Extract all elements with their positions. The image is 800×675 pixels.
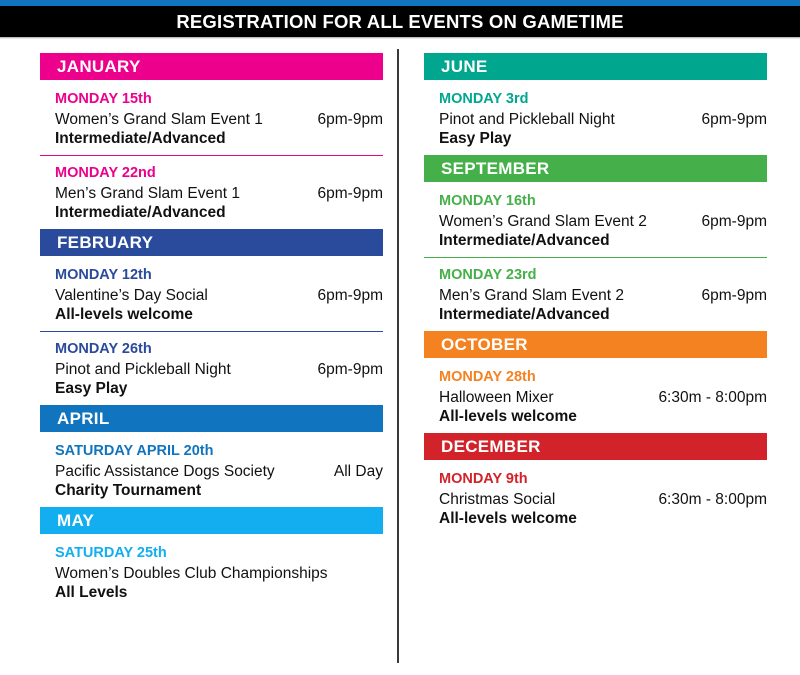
event-item[interactable]: SATURDAY APRIL 20thPacific Assistance Do… bbox=[40, 434, 383, 507]
month-header-september: SEPTEMBER bbox=[424, 155, 767, 182]
event-body: Valentine’s Day SocialAll-levels welcome… bbox=[40, 287, 383, 325]
event-list: MONDAY 9thChristmas SocialAll-levels wel… bbox=[424, 460, 767, 535]
event-time: 6pm-9pm bbox=[306, 287, 383, 306]
event-level: Intermediate/Advanced bbox=[439, 306, 624, 325]
event-body: Women’s Doubles Club ChampionshipsAll Le… bbox=[40, 565, 383, 603]
event-body: Pinot and Pickleball NightEasy Play6pm-9… bbox=[40, 361, 383, 399]
event-date: SATURDAY APRIL 20th bbox=[40, 442, 383, 460]
event-level: All-levels welcome bbox=[439, 408, 577, 427]
event-text: Pinot and Pickleball NightEasy Play bbox=[439, 111, 615, 149]
event-level: Intermediate/Advanced bbox=[55, 204, 240, 223]
event-item[interactable]: MONDAY 12thValentine’s Day SocialAll-lev… bbox=[40, 258, 383, 331]
event-item[interactable]: MONDAY 23rdMen’s Grand Slam Event 2Inter… bbox=[424, 257, 767, 331]
event-text: Men’s Grand Slam Event 1Intermediate/Adv… bbox=[55, 185, 240, 223]
month-name: APRIL bbox=[57, 410, 110, 427]
event-time: 6:30m - 8:00pm bbox=[646, 491, 767, 510]
event-date: MONDAY 28th bbox=[424, 368, 767, 386]
event-time: 6pm-9pm bbox=[306, 111, 383, 130]
month-block: JANUARYMONDAY 15thWomen’s Grand Slam Eve… bbox=[40, 53, 383, 229]
month-header-january: JANUARY bbox=[40, 53, 383, 80]
event-item[interactable]: MONDAY 26thPinot and Pickleball NightEas… bbox=[40, 331, 383, 405]
month-name: JANUARY bbox=[57, 58, 141, 75]
month-name: SEPTEMBER bbox=[441, 160, 550, 177]
month-header-june: JUNE bbox=[424, 53, 767, 80]
event-time: All Day bbox=[322, 463, 383, 482]
event-text: Pinot and Pickleball NightEasy Play bbox=[55, 361, 231, 399]
event-text: Women’s Grand Slam Event 1Intermediate/A… bbox=[55, 111, 263, 149]
event-item[interactable]: MONDAY 9thChristmas SocialAll-levels wel… bbox=[424, 462, 767, 535]
event-body: Christmas SocialAll-levels welcome6:30m … bbox=[424, 491, 767, 529]
month-block: APRILSATURDAY APRIL 20thPacific Assistan… bbox=[40, 405, 383, 507]
registration-schedule-page: REGISTRATION FOR ALL EVENTS ON GAMETIME … bbox=[0, 0, 800, 675]
month-name: FEBRUARY bbox=[57, 234, 153, 251]
event-level: Intermediate/Advanced bbox=[55, 130, 263, 149]
event-text: Valentine’s Day SocialAll-levels welcome bbox=[55, 287, 208, 325]
event-date: SATURDAY 25th bbox=[40, 544, 383, 562]
event-time: 6pm-9pm bbox=[306, 361, 383, 380]
event-name: Women’s Grand Slam Event 2 bbox=[439, 213, 647, 232]
event-time: 6pm-9pm bbox=[690, 287, 767, 306]
month-block: JUNEMONDAY 3rdPinot and Pickleball Night… bbox=[424, 53, 767, 155]
right-column: JUNEMONDAY 3rdPinot and Pickleball Night… bbox=[400, 53, 800, 663]
month-header-october: OCTOBER bbox=[424, 331, 767, 358]
event-list: SATURDAY APRIL 20thPacific Assistance Do… bbox=[40, 432, 383, 507]
event-name: Women’s Doubles Club Championships bbox=[55, 565, 328, 584]
event-date: MONDAY 15th bbox=[40, 90, 383, 108]
event-level: Easy Play bbox=[439, 130, 615, 149]
event-level: Easy Play bbox=[55, 380, 231, 399]
event-name: Men’s Grand Slam Event 2 bbox=[439, 287, 624, 306]
event-text: Christmas SocialAll-levels welcome bbox=[439, 491, 577, 529]
event-name: Halloween Mixer bbox=[439, 389, 577, 408]
month-header-february: FEBRUARY bbox=[40, 229, 383, 256]
event-list: MONDAY 12thValentine’s Day SocialAll-lev… bbox=[40, 256, 383, 405]
event-name: Pacific Assistance Dogs Society bbox=[55, 463, 275, 482]
event-text: Women’s Grand Slam Event 2Intermediate/A… bbox=[439, 213, 647, 251]
event-name: Pinot and Pickleball Night bbox=[439, 111, 615, 130]
month-header-december: DECEMBER bbox=[424, 433, 767, 460]
event-item[interactable]: SATURDAY 25thWomen’s Doubles Club Champi… bbox=[40, 536, 383, 609]
event-name: Men’s Grand Slam Event 1 bbox=[55, 185, 240, 204]
event-level: Charity Tournament bbox=[55, 482, 275, 501]
month-header-april: APRIL bbox=[40, 405, 383, 432]
event-date: MONDAY 3rd bbox=[424, 90, 767, 108]
event-text: Halloween MixerAll-levels welcome bbox=[439, 389, 577, 427]
event-body: Men’s Grand Slam Event 1Intermediate/Adv… bbox=[40, 185, 383, 223]
month-name: JUNE bbox=[441, 58, 488, 75]
event-text: Pacific Assistance Dogs SocietyCharity T… bbox=[55, 463, 275, 501]
month-name: DECEMBER bbox=[441, 438, 541, 455]
event-time: 6pm-9pm bbox=[690, 111, 767, 130]
event-body: Women’s Grand Slam Event 2Intermediate/A… bbox=[424, 213, 767, 251]
event-level: Intermediate/Advanced bbox=[439, 232, 647, 251]
event-date: MONDAY 12th bbox=[40, 266, 383, 284]
event-body: Pinot and Pickleball NightEasy Play6pm-9… bbox=[424, 111, 767, 149]
event-text: Women’s Doubles Club ChampionshipsAll Le… bbox=[55, 565, 328, 603]
event-body: Pacific Assistance Dogs SocietyCharity T… bbox=[40, 463, 383, 501]
page-header-bar: REGISTRATION FOR ALL EVENTS ON GAMETIME bbox=[0, 6, 800, 37]
event-date: MONDAY 26th bbox=[40, 340, 383, 358]
month-block: MAYSATURDAY 25thWomen’s Doubles Club Cha… bbox=[40, 507, 383, 609]
month-block: FEBRUARYMONDAY 12thValentine’s Day Socia… bbox=[40, 229, 383, 405]
event-name: Christmas Social bbox=[439, 491, 577, 510]
event-date: MONDAY 9th bbox=[424, 470, 767, 488]
event-date: MONDAY 22nd bbox=[40, 164, 383, 182]
event-list: SATURDAY 25thWomen’s Doubles Club Champi… bbox=[40, 534, 383, 609]
event-body: Halloween MixerAll-levels welcome6:30m -… bbox=[424, 389, 767, 427]
month-name: MAY bbox=[57, 512, 94, 529]
event-level: All-levels welcome bbox=[55, 306, 208, 325]
event-item[interactable]: MONDAY 15thWomen’s Grand Slam Event 1Int… bbox=[40, 82, 383, 155]
event-list: MONDAY 16thWomen’s Grand Slam Event 2Int… bbox=[424, 182, 767, 331]
event-body: Women’s Grand Slam Event 1Intermediate/A… bbox=[40, 111, 383, 149]
event-name: Women’s Grand Slam Event 1 bbox=[55, 111, 263, 130]
month-block: DECEMBERMONDAY 9thChristmas SocialAll-le… bbox=[424, 433, 767, 535]
event-level: All-levels welcome bbox=[439, 510, 577, 529]
month-name: OCTOBER bbox=[441, 336, 528, 353]
event-date: MONDAY 23rd bbox=[424, 266, 767, 284]
event-text: Men’s Grand Slam Event 2Intermediate/Adv… bbox=[439, 287, 624, 325]
event-time: 6pm-9pm bbox=[306, 185, 383, 204]
event-date: MONDAY 16th bbox=[424, 192, 767, 210]
event-list: MONDAY 3rdPinot and Pickleball NightEasy… bbox=[424, 80, 767, 155]
event-body: Men’s Grand Slam Event 2Intermediate/Adv… bbox=[424, 287, 767, 325]
event-item[interactable]: MONDAY 3rdPinot and Pickleball NightEasy… bbox=[424, 82, 767, 155]
schedule-columns: JANUARYMONDAY 15thWomen’s Grand Slam Eve… bbox=[0, 39, 800, 663]
event-name: Valentine’s Day Social bbox=[55, 287, 208, 306]
month-header-may: MAY bbox=[40, 507, 383, 534]
event-item[interactable]: MONDAY 22ndMen’s Grand Slam Event 1Inter… bbox=[40, 155, 383, 229]
page-title: REGISTRATION FOR ALL EVENTS ON GAMETIME bbox=[176, 11, 623, 33]
event-name: Pinot and Pickleball Night bbox=[55, 361, 231, 380]
event-time: 6:30m - 8:00pm bbox=[646, 389, 767, 408]
column-divider bbox=[397, 49, 399, 663]
event-item[interactable]: MONDAY 28thHalloween MixerAll-levels wel… bbox=[424, 360, 767, 433]
event-list: MONDAY 28thHalloween MixerAll-levels wel… bbox=[424, 358, 767, 433]
month-block: OCTOBERMONDAY 28thHalloween MixerAll-lev… bbox=[424, 331, 767, 433]
event-list: MONDAY 15thWomen’s Grand Slam Event 1Int… bbox=[40, 80, 383, 229]
event-time: 6pm-9pm bbox=[690, 213, 767, 232]
left-column: JANUARYMONDAY 15thWomen’s Grand Slam Eve… bbox=[0, 53, 400, 663]
event-item[interactable]: MONDAY 16thWomen’s Grand Slam Event 2Int… bbox=[424, 184, 767, 257]
event-level: All Levels bbox=[55, 584, 328, 603]
month-block: SEPTEMBERMONDAY 16thWomen’s Grand Slam E… bbox=[424, 155, 767, 331]
